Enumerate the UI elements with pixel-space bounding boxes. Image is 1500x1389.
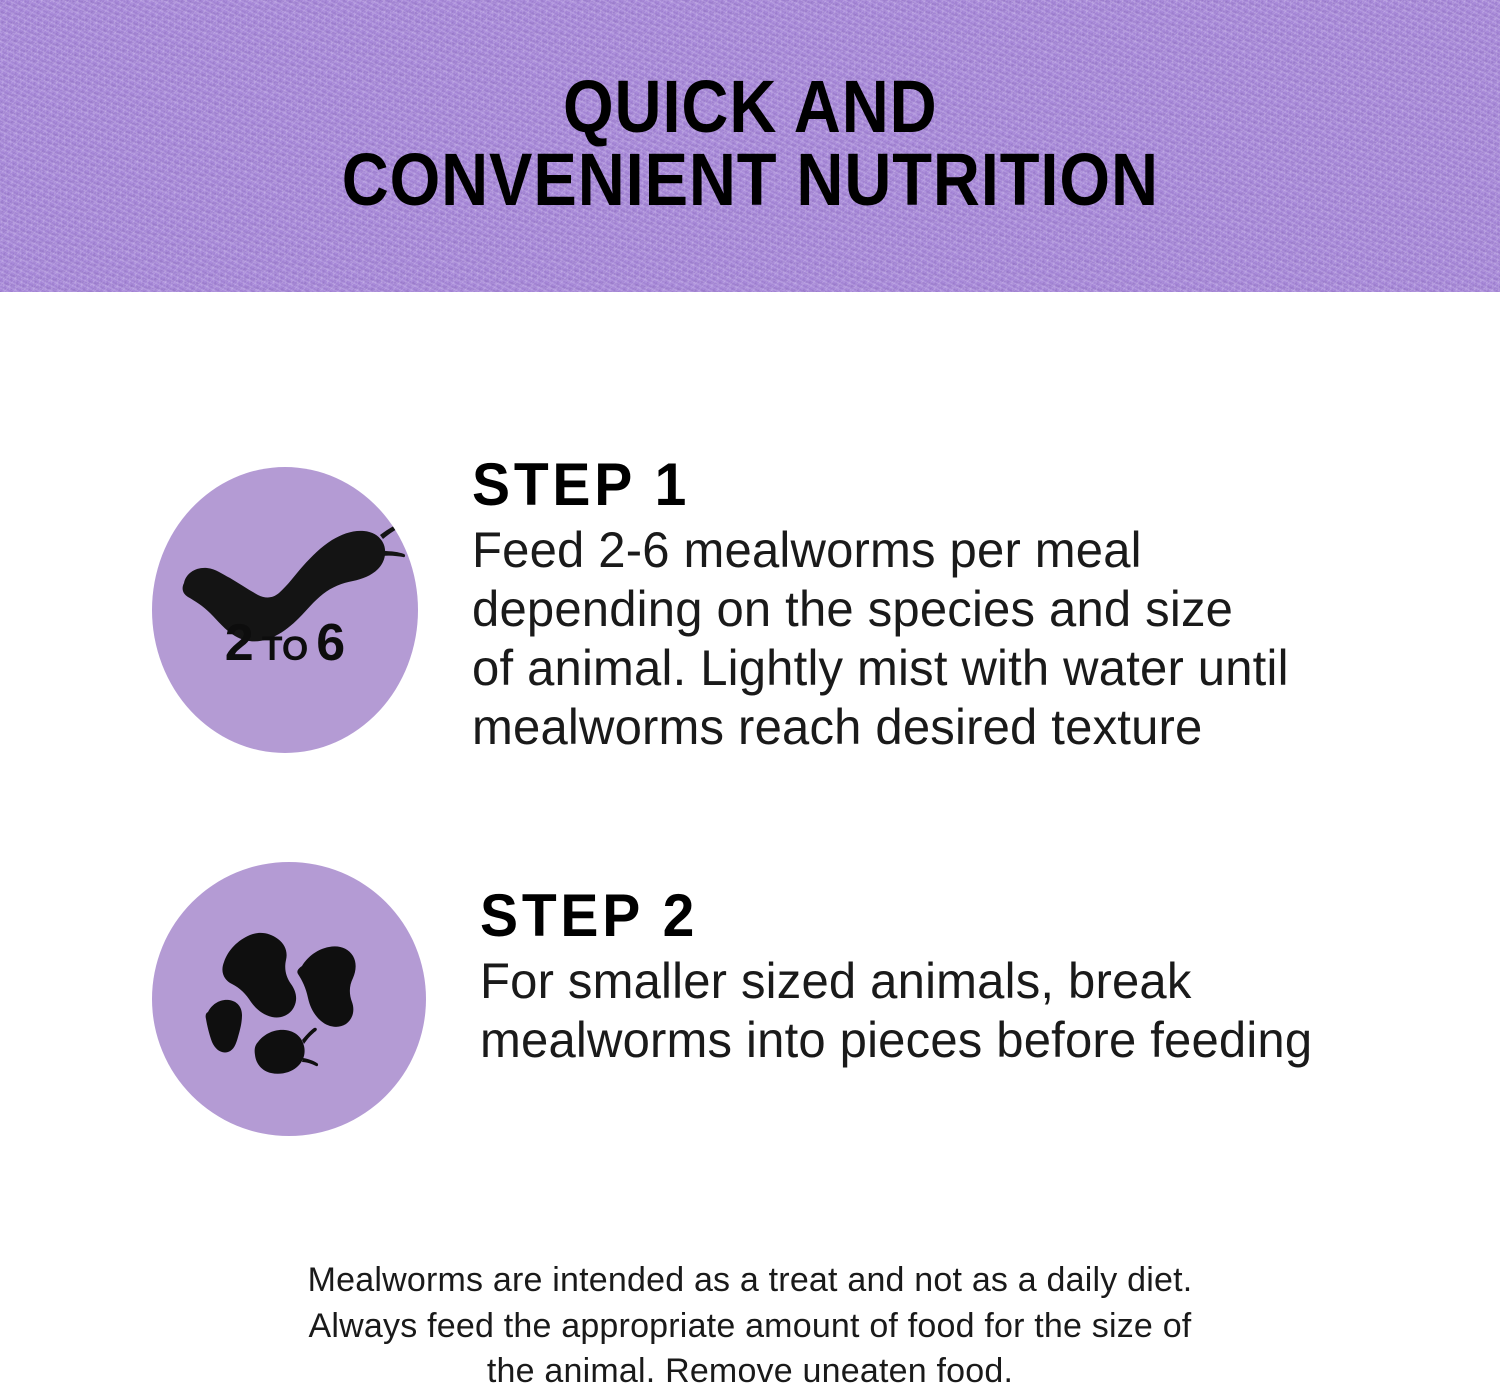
page-title: QUICK AND CONVENIENT NUTRITION	[341, 71, 1158, 216]
count-connector: TO	[262, 630, 309, 668]
header-band: QUICK AND CONVENIENT NUTRITION	[0, 0, 1500, 292]
step-row-1: 2TO6 STEP 1 Feed 2-6 mealworms per meal …	[152, 455, 1305, 757]
broken-mealworm-pieces-icon	[152, 862, 426, 1136]
step-2-icon-badge	[152, 862, 426, 1136]
whole-mealworm-icon	[152, 467, 418, 753]
step-1-count-label: 2TO6	[152, 617, 418, 669]
step-1-text-block: STEP 1 Feed 2-6 mealworms per meal depen…	[472, 455, 1305, 757]
step-1-body: Feed 2-6 mealworms per meal depending on…	[472, 521, 1289, 757]
step-2-text-block: STEP 2 For smaller sized animals, break …	[480, 862, 1329, 1070]
step-1-heading: STEP 1	[472, 455, 1264, 515]
step-2-heading: STEP 2	[480, 886, 1287, 946]
count-max: 6	[316, 614, 345, 672]
product-instruction-panel: QUICK AND CONVENIENT NUTRITION 2TO6 STEP…	[0, 0, 1500, 1389]
footer-disclaimer: Mealworms are intended as a treat and no…	[0, 1258, 1500, 1389]
step-2-body: For smaller sized animals, break mealwor…	[480, 952, 1312, 1070]
step-1-icon-badge: 2TO6	[152, 467, 418, 753]
count-value: 2	[225, 614, 254, 672]
step-row-2: STEP 2 For smaller sized animals, break …	[152, 862, 1329, 1136]
